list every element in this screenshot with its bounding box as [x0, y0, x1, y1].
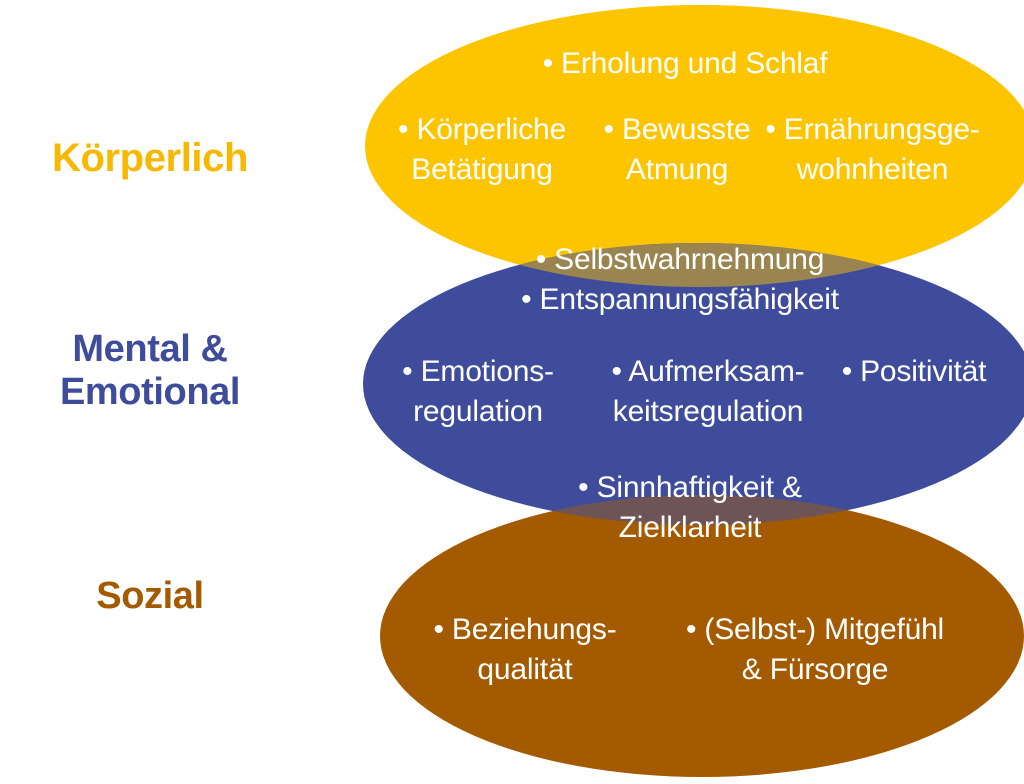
diagram-canvas: Körperlich Mental & Emotional Sozial • E… — [0, 0, 1024, 784]
item-koerperliche-betaetigung: • Körperliche Betätigung — [372, 110, 592, 189]
category-label-physical: Körperlich — [0, 136, 300, 181]
item-bewusste-atmung: • Bewusste Atmung — [586, 110, 768, 189]
item-selbstwahrnehmung: • Selbstwahrnehmung — [470, 240, 890, 280]
category-label-social: Sozial — [0, 575, 300, 618]
item-sinnhaftigkeit-zielklarheit: • Sinnhaftigkeit & Zielklarheit — [545, 468, 835, 547]
item-emotionsregulation: • Emotions- regulation — [378, 352, 578, 431]
item-beziehungsqualitaet: • Beziehungs- qualität — [415, 610, 635, 689]
item-ernaehrungsgewohnheiten: • Ernährungsge- wohnheiten — [760, 110, 985, 189]
item-positivitaet: • Positivität — [824, 352, 1004, 392]
item-erholung-und-schlaf: • Erholung und Schlaf — [455, 44, 915, 84]
item-entspannungsfaehigkeit: • Entspannungsfähigkeit — [455, 280, 905, 320]
category-label-mental: Mental & Emotional — [0, 328, 300, 413]
item-aufmerksamkeitsregulation: • Aufmerksam- keitsregulation — [588, 352, 828, 431]
item-selbst-mitgefuehl-fuersorge: • (Selbst-) Mitgefühl & Fürsorge — [655, 610, 975, 689]
